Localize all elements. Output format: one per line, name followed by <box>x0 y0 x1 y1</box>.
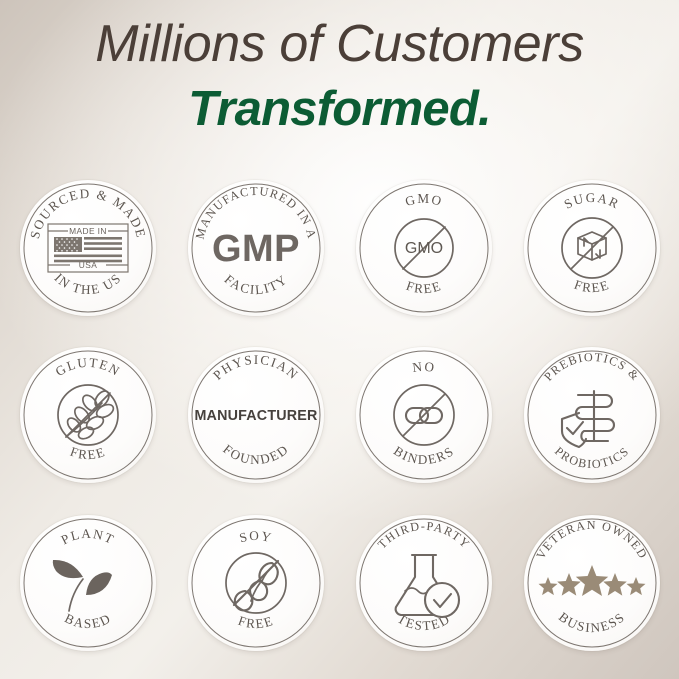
badge-top-arc-text: PREBIOTICS & <box>541 350 643 384</box>
badge-bottom-arc-text: IN THE US <box>52 270 125 297</box>
no-soybean-icon <box>226 553 286 613</box>
badge-sourced-made-in-the-us[interactable]: SOURCED & MADE IN THE US MADE IN USA <box>20 180 156 316</box>
flag-top-label: MADE IN <box>69 226 107 236</box>
badge-top-arc-text: PHYSICIAN <box>210 352 302 383</box>
usa-flag-icon: MADE IN USA <box>48 224 128 272</box>
no-chain-link-icon <box>394 385 454 445</box>
sprout-leaves-icon <box>53 560 112 611</box>
text-only-icon: MANUFACTURER <box>194 408 318 424</box>
badge-bottom-arc-text: FOUNDED <box>220 441 291 467</box>
badge-gmo-free[interactable]: GMO FREE GMO <box>356 180 492 316</box>
badge-top-arc-text: VETERAN OWNED <box>533 518 650 562</box>
badge-gluten-free[interactable]: GLUTEN FREE <box>20 347 156 483</box>
badge-no-binders[interactable]: NO BINDERS <box>356 347 492 483</box>
gmp-text-icon: GMP <box>212 228 300 270</box>
badge-bottom-arc-text: FREE <box>572 277 612 296</box>
badge-top-arc-text: GLUTEN <box>53 355 124 379</box>
badge-top-arc-text: PLANT <box>59 526 118 548</box>
badge-top-arc-text: GMO <box>403 191 444 209</box>
badge-bottom-arc-text: BASED <box>62 610 113 631</box>
flask-check-icon <box>396 555 459 617</box>
badge-top-arc-text: SUGAR <box>561 190 622 212</box>
badge-bottom-arc-text: FREE <box>404 278 444 297</box>
badge-grid: SOURCED & MADE IN THE US MADE IN USA <box>0 160 679 679</box>
badge-plant-based[interactable]: PLANT BASED <box>20 515 156 651</box>
badge-prebiotics-probiotics[interactable]: PREBIOTICS & PROBIOTICS <box>524 347 660 483</box>
promo-badge-panel: Millions of Customers Transformed. SOURC… <box>0 0 679 679</box>
badge-sugar-free[interactable]: SUGAR FREE <box>524 180 660 316</box>
badge-physician-founded-manufacturer[interactable]: PHYSICIAN FOUNDED MANUFACTURER <box>188 347 324 483</box>
badge-top-arc-text: SOY <box>238 528 274 546</box>
badge-bottom-arc-text: FACILITY <box>222 271 291 297</box>
five-stars-icon <box>539 565 646 596</box>
badge-top-arc-text: THIRD-PARTY <box>375 519 473 551</box>
badge-gmp-facility[interactable]: MANUFACTURED IN A FACILITY GMP <box>188 180 324 316</box>
badge-third-party-tested[interactable]: THIRD-PARTY TESTED <box>356 515 492 651</box>
badge-veteran-owned-business[interactable]: VETERAN OWNED BUSINESS <box>524 515 660 651</box>
headline-accent: Transformed. <box>0 80 679 138</box>
badge-bottom-arc-text: BINDERS <box>391 443 457 467</box>
no-wheat-icon <box>58 385 118 445</box>
badge-soy-free[interactable]: SOY FREE <box>188 515 324 651</box>
badge-bottom-arc-text: FREE <box>236 613 276 632</box>
badge-bottom-arc-text: PROBIOTICS <box>552 444 632 471</box>
gut-shield-check-icon <box>562 391 614 447</box>
no-gmo-icon: GMO <box>395 219 453 277</box>
headline-primary: Millions of Customers <box>0 14 679 74</box>
gmo-center-text: GMO <box>405 240 443 257</box>
no-sugar-cube-icon <box>562 218 622 278</box>
badge-bottom-arc-text: BUSINESS <box>556 609 628 635</box>
badge-top-arc-text: NO <box>411 359 436 375</box>
badge-bottom-arc-text: FREE <box>68 444 108 463</box>
header: Millions of Customers Transformed. <box>0 0 679 160</box>
